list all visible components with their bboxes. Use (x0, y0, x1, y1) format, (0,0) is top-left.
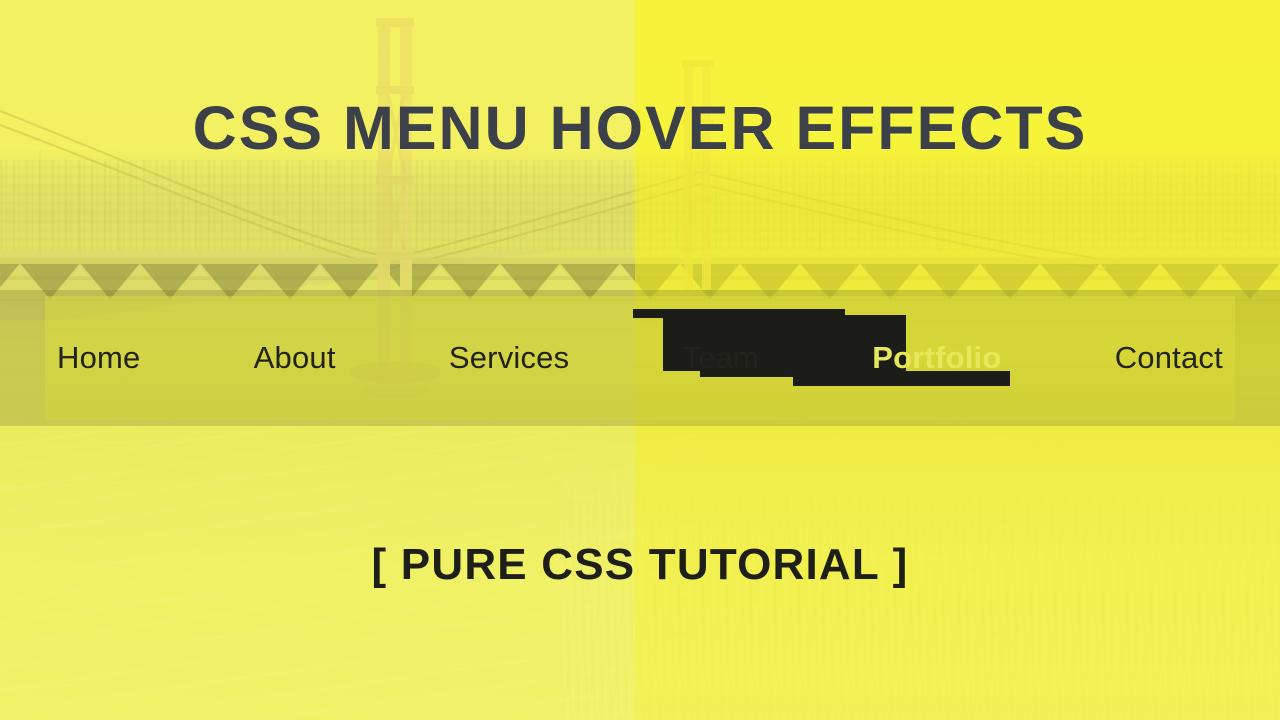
nav-item-team[interactable]: Team (679, 334, 764, 382)
page-title: CSS MENU HOVER EFFECTS (0, 98, 1280, 159)
nav-item-portfolio[interactable]: Portfolio (868, 334, 1005, 382)
nav-item-home[interactable]: Home (53, 334, 145, 382)
subtitle: [ PURE CSS TUTORIAL ] (0, 543, 1280, 587)
nav-item-contact[interactable]: Contact (1111, 334, 1227, 382)
navigation-menu: Home About Services Team Portfolio Conta… (45, 290, 1235, 426)
nav-item-about[interactable]: About (250, 334, 340, 382)
video-thumbnail-frame: CSS MENU HOVER EFFECTS Home About Servic… (0, 0, 1280, 720)
nav-item-services[interactable]: Services (445, 334, 573, 382)
